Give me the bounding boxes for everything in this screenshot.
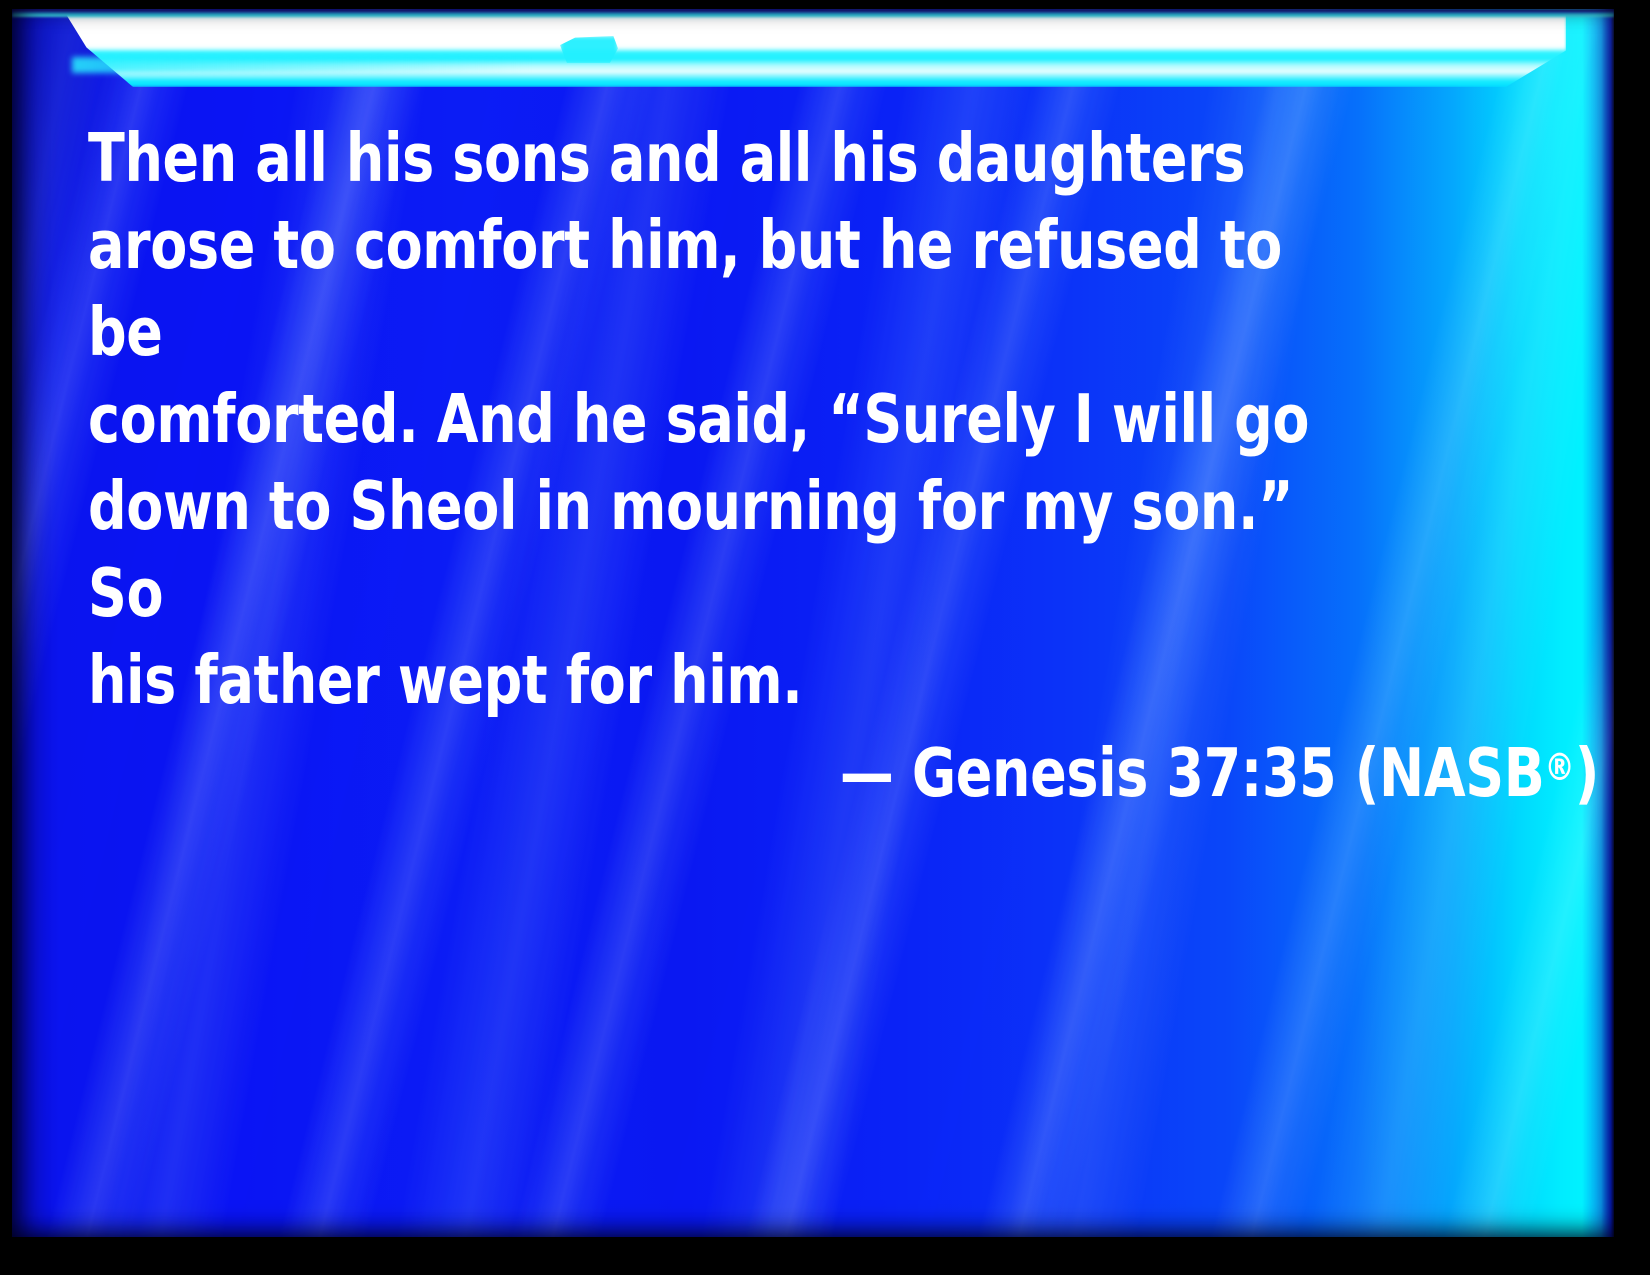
verse-line-3: comforted. And he said, “Surely I will g… [88,376,1359,463]
citation-suffix: ) [1575,734,1599,812]
citation-prefix: — Genesis 37:35 (NASB [840,734,1545,812]
header-glow-bar [12,9,1614,95]
glow-bar-body [64,11,1566,87]
glow-bar-top-rule [12,9,1614,17]
verse-line-1: Then all his sons and all his daughters [88,115,1359,202]
verse-citation: — Genesis 37:35 (NASB®) [179,724,1599,817]
verse-slide: Then all his sons and all his daughters … [0,0,1650,1275]
verse-line-5: his father wept for him. [88,637,1359,724]
slide-canvas: Then all his sons and all his daughters … [12,9,1614,1237]
verse-line-2: arose to comfort him, but he refused to … [88,202,1359,376]
verse-content: Then all his sons and all his daughters … [88,115,1508,817]
registered-trademark-icon: ® [1544,745,1574,789]
verse-line-4: down to Sheol in mourning for my son.” S… [88,463,1359,637]
glow-bar-feather [72,57,532,73]
